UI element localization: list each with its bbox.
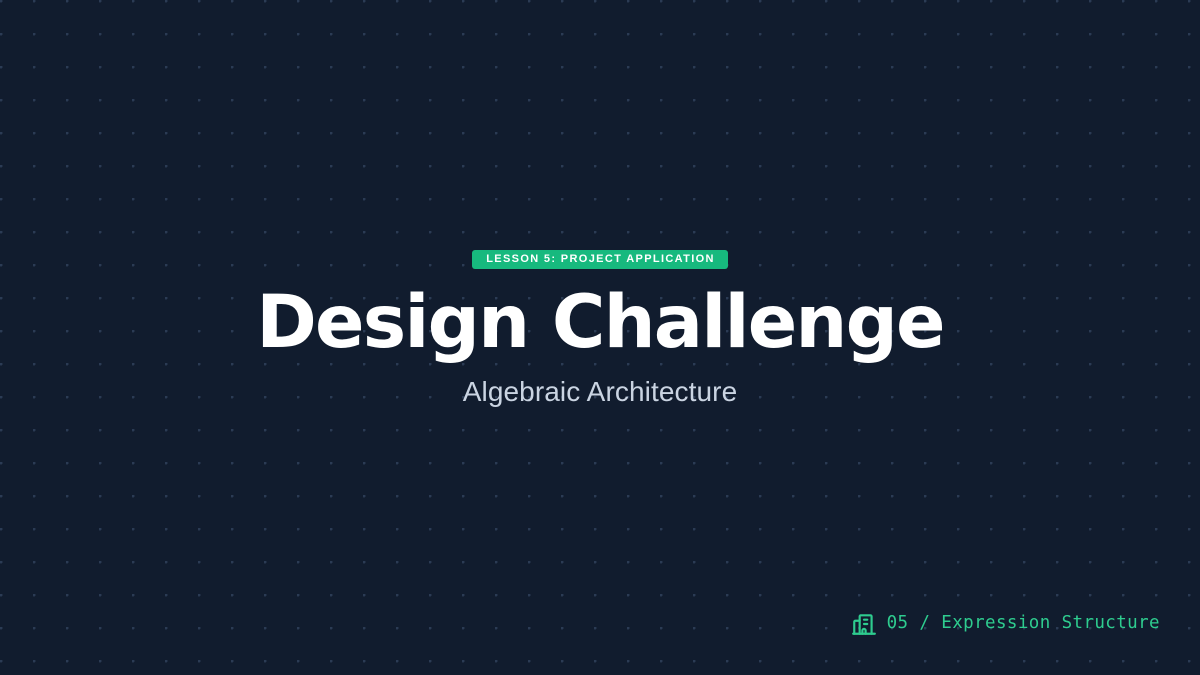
page-subtitle: Algebraic Architecture xyxy=(463,375,738,409)
building-icon xyxy=(851,611,877,637)
footer-section-label: 05 / Expression Structure xyxy=(887,615,1160,633)
hero-block: Lesson 5: Project Application Design Cha… xyxy=(0,0,1200,667)
slide-canvas: Lesson 5: Project Application Design Cha… xyxy=(0,0,1200,675)
slide-footer: 05 / Expression Structure xyxy=(851,611,1160,637)
page-title: Design Challenge xyxy=(256,286,944,359)
lesson-badge: Lesson 5: Project Application xyxy=(472,250,728,269)
